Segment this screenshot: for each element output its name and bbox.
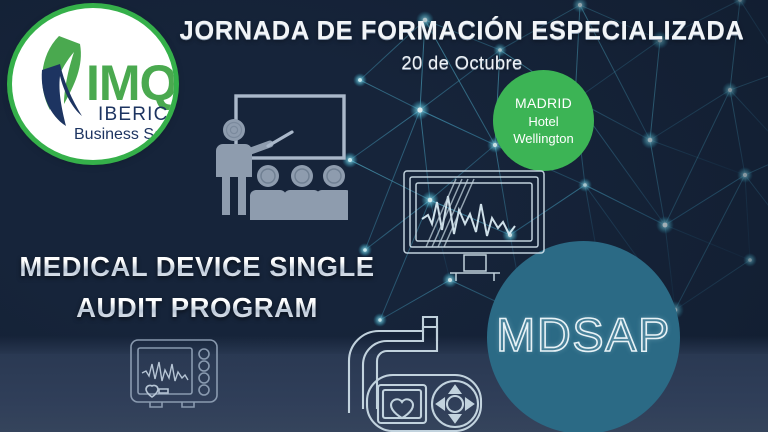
presenter-whiteboard-icon <box>208 92 348 225</box>
main-title: MEDICAL DEVICE SINGLE AUDIT PROGRAM <box>8 246 386 328</box>
imq-logo: IMQ IBERICA Business School <box>12 8 174 160</box>
patient-monitor-icon <box>128 337 220 420</box>
main-title-line2: AUDIT PROGRAM <box>8 287 386 328</box>
mdsap-label: MDSAP <box>496 307 671 362</box>
svg-text:IBERICA: IBERICA <box>98 104 174 125</box>
poster-canvas: IMQ IBERICA Business School JORNADA DE F… <box>0 0 768 432</box>
svg-text:IMQ: IMQ <box>86 55 174 111</box>
defibrillator-device-icon <box>345 313 517 432</box>
event-title: JORNADA DE FORMACIÓN ESPECIALIZADA <box>170 17 754 46</box>
location-badge: MADRID Hotel Wellington <box>493 70 594 171</box>
main-title-line1: MEDICAL DEVICE SINGLE <box>8 246 386 287</box>
ecg-monitor-icon <box>398 163 550 296</box>
location-city: MADRID <box>515 94 572 112</box>
event-date: 20 de Octubre <box>170 52 754 74</box>
location-venue-line2: Wellington <box>513 130 573 147</box>
location-venue-line1: Hotel <box>528 113 558 130</box>
svg-text:Business School: Business School <box>74 126 174 143</box>
